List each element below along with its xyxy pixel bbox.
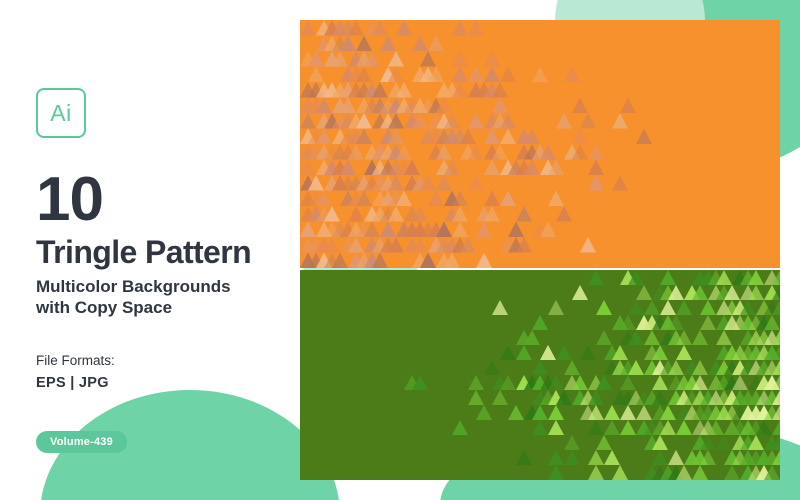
green-pattern-graphic: [300, 270, 780, 480]
orange-pattern-graphic: [300, 20, 780, 268]
file-formats-label: File Formats:: [36, 353, 306, 368]
subtitle-line-2: with Copy Space: [36, 297, 306, 318]
page-title: Tringle Pattern: [36, 235, 306, 269]
item-count: 10: [36, 171, 306, 229]
volume-badge: Volume-439: [36, 431, 127, 453]
poster-canvas: Ai 10 Tringle Pattern Multicolor Backgro…: [0, 0, 800, 500]
info-panel: Ai 10 Tringle Pattern Multicolor Backgro…: [36, 88, 306, 453]
illustrator-badge: Ai: [36, 88, 86, 138]
preview-orange: [300, 20, 780, 268]
preview-green: [300, 270, 780, 480]
illustrator-badge-label: Ai: [50, 100, 71, 127]
subtitle-line-1: Multicolor Backgrounds: [36, 276, 306, 297]
file-formats-value: EPS | JPG: [36, 375, 306, 391]
